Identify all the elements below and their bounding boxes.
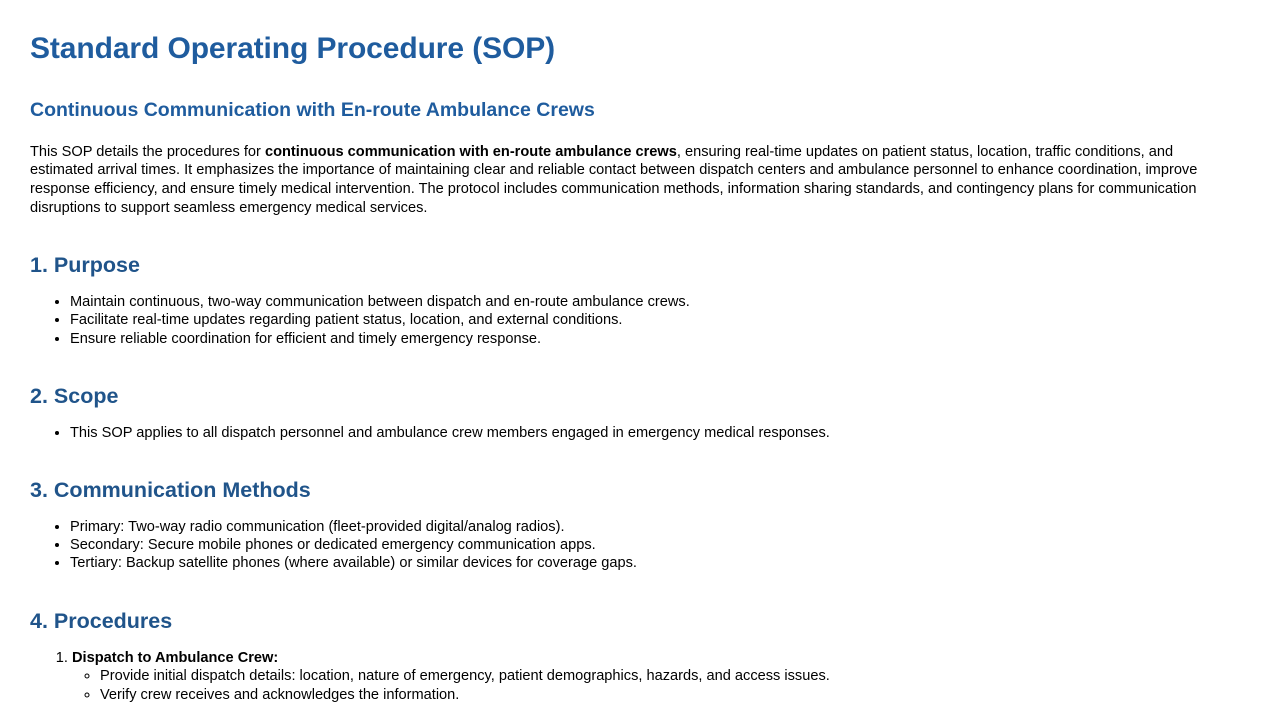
procedure-step-title: Dispatch to Ambulance Crew: (72, 650, 278, 666)
list-item: Secondary: Secure mobile phones or dedic… (70, 536, 1233, 554)
section-heading-purpose: 1. Purpose (30, 253, 1233, 279)
purpose-list: Maintain continuous, two-way communicati… (30, 293, 1233, 348)
list-item: Primary: Two-way radio communication (fl… (70, 518, 1233, 536)
procedure-step: Dispatch to Ambulance Crew: Provide init… (72, 649, 1233, 704)
list-item: Maintain continuous, two-way communicati… (70, 293, 1233, 311)
list-item: Verify crew receives and acknowledges th… (100, 686, 1233, 704)
section-heading-procedures: 4. Procedures (30, 609, 1233, 635)
intro-text-lead: This SOP details the procedures for (30, 144, 265, 160)
document-subtitle: Continuous Communication with En-route A… (30, 99, 1233, 122)
document-page: Standard Operating Procedure (SOP) Conti… (0, 0, 1263, 704)
list-item: This SOP applies to all dispatch personn… (70, 424, 1233, 442)
procedure-substep-list: Provide initial dispatch details: locati… (72, 667, 1233, 704)
section-heading-communication-methods: 3. Communication Methods (30, 478, 1233, 504)
intro-paragraph: This SOP details the procedures for cont… (30, 143, 1210, 217)
list-item: Facilitate real-time updates regarding p… (70, 311, 1233, 329)
scope-list: This SOP applies to all dispatch personn… (30, 424, 1233, 442)
list-item: Tertiary: Backup satellite phones (where… (70, 554, 1233, 572)
procedures-list: Dispatch to Ambulance Crew: Provide init… (30, 649, 1233, 704)
communication-methods-list: Primary: Two-way radio communication (fl… (30, 518, 1233, 573)
page-title: Standard Operating Procedure (SOP) (30, 32, 1233, 67)
list-item: Ensure reliable coordination for efficie… (70, 330, 1233, 348)
list-item: Provide initial dispatch details: locati… (100, 667, 1233, 686)
intro-emphasis: continuous communication with en-route a… (265, 144, 677, 160)
section-heading-scope: 2. Scope (30, 384, 1233, 410)
